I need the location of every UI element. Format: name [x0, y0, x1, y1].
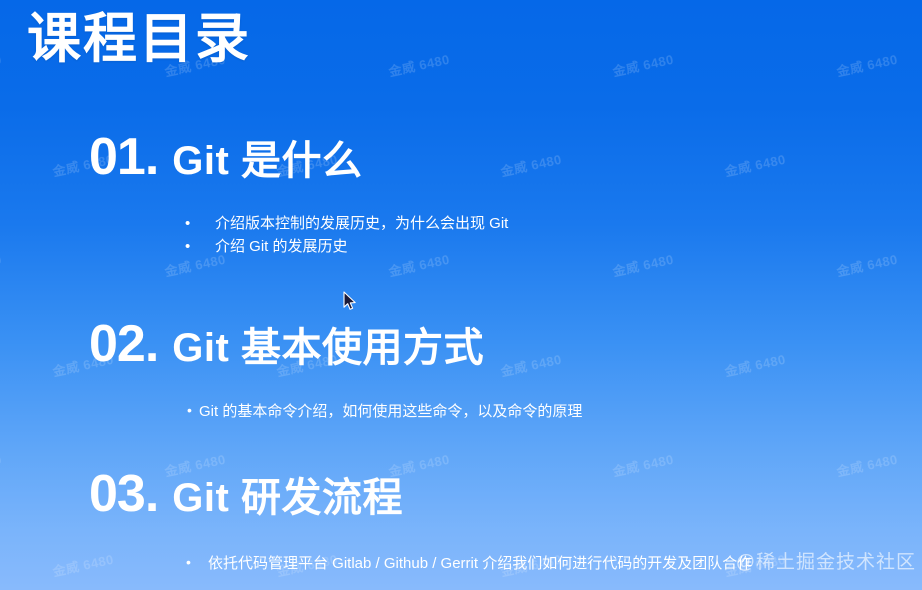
bullet-text: Git 的基本命令介绍，如何使用这些命令，以及命令的原理: [199, 400, 582, 423]
section-title: Git 研发流程: [172, 478, 403, 518]
section-number: 01.: [89, 131, 158, 183]
bullet-dot-icon: •: [185, 212, 215, 235]
section-heading: 01. Git 是什么: [89, 131, 922, 183]
section-heading: 02. Git 基本使用方式: [89, 318, 922, 370]
bullet-dot-icon: •: [186, 552, 208, 574]
bullet-dot-icon: •: [185, 235, 215, 258]
list-item: • 介绍 Git 的发展历史: [185, 235, 922, 258]
list-item: • 介绍版本控制的发展历史，为什么会出现 Git: [185, 212, 922, 235]
presentation-slide: 金威 6480金威 6480金威 6480金威 6480金威 6480金威 64…: [0, 0, 922, 590]
section-title: Git 是什么: [172, 141, 362, 181]
section-number: 03.: [89, 468, 158, 520]
section-heading: 03. Git 研发流程: [89, 468, 922, 520]
agenda-section-02: 02. Git 基本使用方式 • Git 的基本命令介绍，如何使用这些命令，以及…: [0, 318, 922, 423]
bullet-dot-icon: •: [187, 400, 199, 422]
section-number: 02.: [89, 318, 158, 370]
agenda-section-01: 01. Git 是什么 • 介绍版本控制的发展历史，为什么会出现 Git • 介…: [0, 131, 922, 259]
list-item: • Git 的基本命令介绍，如何使用这些命令，以及命令的原理: [187, 400, 922, 423]
page-title: 课程目录: [27, 8, 251, 70]
section-title: Git 基本使用方式: [172, 328, 484, 368]
bullet-text: 介绍 Git 的发展历史: [215, 235, 348, 258]
bullet-text: 介绍版本控制的发展历史，为什么会出现 Git: [215, 212, 508, 235]
section-bullet-list: • Git 的基本命令介绍，如何使用这些命令，以及命令的原理: [187, 400, 922, 423]
section-bullet-list: • 介绍版本控制的发展历史，为什么会出现 Git • 介绍 Git 的发展历史: [185, 212, 922, 259]
bullet-text: 依托代码管理平台 Gitlab / Github / Gerrit 介绍我们如何…: [208, 552, 752, 575]
site-watermark: @稀土掘金技术社区: [736, 547, 916, 574]
slide-content: 课程目录 01. Git 是什么 • 介绍版本控制的发展历史，为什么会出现 Gi…: [0, 0, 922, 590]
